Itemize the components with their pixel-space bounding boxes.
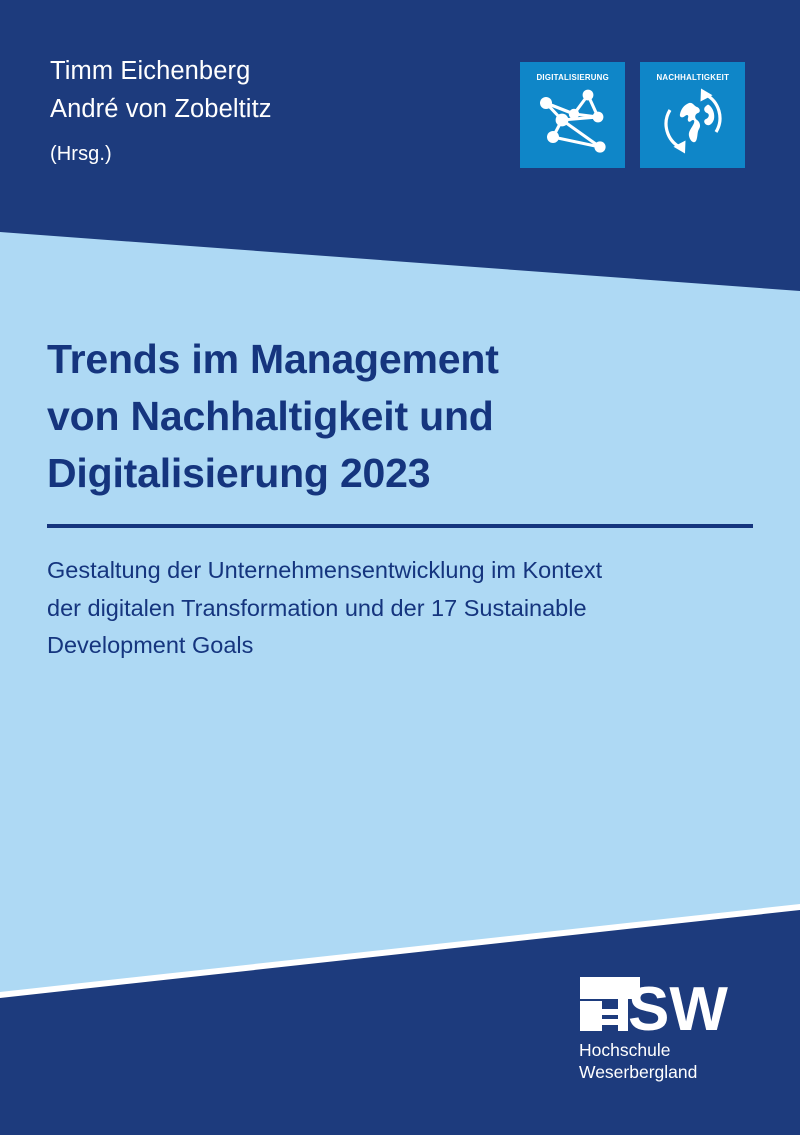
network-nodes-icon xyxy=(536,87,610,155)
badge-label-nachhaltigkeit: NACHHALTIGKEIT xyxy=(656,74,729,82)
title-line-1: Trends im Management xyxy=(47,331,757,388)
globe-recycle-icon xyxy=(656,87,730,155)
title-divider xyxy=(47,524,753,528)
publisher-name-line-2: Weserbergland xyxy=(579,1061,753,1083)
title-line-3: Digitalisierung 2023 xyxy=(47,445,757,502)
badge-label-digitalisierung: DIGITALISIERUNG xyxy=(536,74,608,82)
publisher-name-line-1: Hochschule xyxy=(579,1039,753,1061)
badge-nachhaltigkeit: NACHHALTIGKEIT xyxy=(640,62,745,168)
globe-landmass xyxy=(679,103,713,142)
book-cover: Timm Eichenberg André von Zobeltitz (Hrs… xyxy=(0,0,800,1135)
author-name-1: Timm Eichenberg xyxy=(50,52,272,90)
subtitle-line-1: Gestaltung der Unternehmensentwicklung i… xyxy=(47,552,747,590)
topic-badges: DIGITALISIERUNG xyxy=(520,62,745,168)
page-title: Trends im Management von Nachhaltigkeit … xyxy=(47,331,757,502)
author-name-2: André von Zobeltitz xyxy=(50,90,272,128)
page-subtitle: Gestaltung der Unternehmensentwicklung i… xyxy=(47,552,747,665)
svg-text:SW: SW xyxy=(628,975,728,1033)
subtitle-line-3: Development Goals xyxy=(47,627,747,665)
publisher-name: Hochschule Weserbergland xyxy=(579,1039,753,1083)
hsw-logo-icon: SW xyxy=(578,975,746,1033)
editor-note: (Hrsg.) xyxy=(50,139,272,169)
title-line-2: von Nachhaltigkeit und xyxy=(47,388,757,445)
authors-block: Timm Eichenberg André von Zobeltitz (Hrs… xyxy=(50,52,272,169)
subtitle-line-2: der digitalen Transformation und der 17 … xyxy=(47,590,747,628)
badge-digitalisierung: DIGITALISIERUNG xyxy=(520,62,625,168)
publisher-logo: SW Hochschule Weserbergland xyxy=(578,975,753,1083)
